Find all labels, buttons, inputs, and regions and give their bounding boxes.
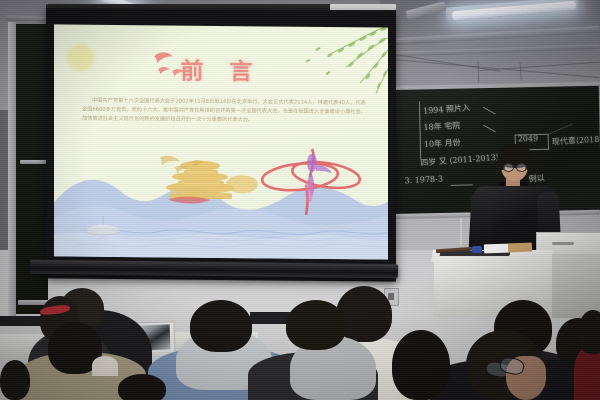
chalk-stroke [483,125,496,133]
page-title: 前 言 [180,52,261,87]
slide: 前 言 中国共产党第十六次全国代表大会于2002年11月8日至14日在北京举行，… [54,24,388,259]
podium-papers[interactable] [484,244,510,254]
slide-body-text: 中国共产党第十六次全国代表大会于2002年11月8日至14日在北京举行，大会正式… [82,97,366,127]
blackboard-rail [8,22,16,318]
podium-handle [552,242,574,245]
presenter-glasses-bridge [512,166,516,167]
audience-head [286,300,346,350]
chalk-note: 10年 月份 [424,137,461,150]
podium-blue-object[interactable] [472,246,482,253]
audience-head [190,300,252,352]
audience-head [578,310,600,354]
chalk-note: 18年 宅院 [423,120,460,133]
chalk-stroke [451,184,473,185]
presenter-glasses [516,163,527,172]
audience-head [392,330,450,400]
audience-scarf [92,356,118,376]
presenter-glasses [503,163,514,172]
chalk-stroke [548,123,572,134]
golden-pavilion-decoration [154,155,264,214]
audience-head [118,374,166,400]
audience-head [0,360,30,400]
podium-side [552,254,600,318]
chalk-note: 3. 1978-3 [404,174,443,185]
chalk-stroke [419,101,421,159]
classroom-photo: 1994 照片入 18年 宅院 10年 月份 四岁 又 ⟨2011-2013⟩ … [0,0,600,400]
red-ribbon-decoration [254,144,372,217]
sailing-boat-decoration [80,213,126,239]
screen-housing-end [330,4,396,10]
chalk-note: 例以 [528,172,545,184]
slide-title-wrap: 前 言 [54,50,388,87]
chalk-note: 1994 照片入 [423,102,471,116]
chalk-stroke [483,107,496,115]
chalk-note: 现代意⟨2018 [552,134,600,148]
chalk-note: 四岁 又 ⟨2011-2013⟩ [420,152,499,169]
podium-folder[interactable] [508,243,532,253]
